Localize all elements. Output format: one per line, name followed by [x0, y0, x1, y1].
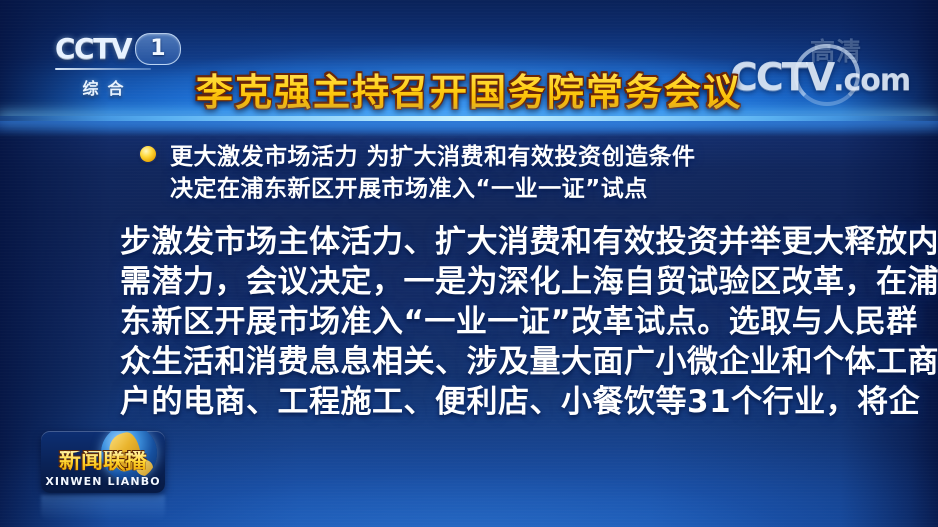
body-line-3: 东新区开展市场准入“一业一证”改革试点。选取与人民群: [120, 302, 830, 342]
cctv1-number-badge: 1: [135, 33, 181, 65]
body-line-1: 步激发市场主体活力、扩大消费和有效投资并举更大释放内: [120, 222, 830, 262]
program-name-chinese: 新闻联播: [41, 451, 165, 473]
cctv1-channel-number: 1: [150, 38, 165, 60]
cctv1-logo-row: CCTV 1: [55, 31, 183, 67]
cctv1-channel-subname: 综合: [55, 75, 151, 99]
subtitle-line-2: 决定在浦东新区开展市场准入“一业一证”试点: [140, 170, 840, 202]
watermark-brand: CCTV: [730, 55, 833, 99]
body-paragraph: 步激发市场主体活力、扩大消费和有效投资并举更大释放内 需潜力，会议决定，一是为深…: [120, 222, 830, 422]
program-name-pinyin: XINWEN LIANBO: [41, 475, 165, 488]
body-line-5: 户的电商、工程施工、便利店、小餐饮等31个行业，将企: [120, 382, 830, 422]
watermark-suffix: .com: [833, 63, 910, 98]
subtitle-line-1: 更大激发市场活力 为扩大消费和有效投资创造条件: [140, 138, 840, 170]
body-line-2: 需潜力，会议决定，一是为深化上海自贸试验区改革，在浦: [120, 262, 830, 302]
subtitle-block: 更大激发市场活力 为扩大消费和有效投资创造条件 决定在浦东新区开展市场准入“一业…: [140, 138, 840, 202]
cctv1-wordmark: CCTV: [55, 35, 131, 63]
watermark-wordmark: CCTV.com: [730, 58, 920, 96]
body-line-4: 众生活和消费息息相关、涉及量大面广小微企业和个体工商: [120, 342, 830, 382]
cctv-com-watermark: 高清 CCTV.com: [730, 32, 920, 104]
subtitle-text-2: 决定在浦东新区开展市场准入“一业一证”试点: [170, 169, 648, 203]
headline-divider-fade: [0, 121, 938, 137]
cctv1-underline-rule: [55, 68, 151, 70]
broadcast-screen: CCTV 1 综合 高清 CCTV.com 李克强主持召开国务院常务会议 更大激…: [0, 0, 938, 527]
bullet-dot-icon: [140, 146, 156, 162]
xinwen-lianbo-logo: 新闻联播 XINWEN LIANBO: [41, 431, 165, 493]
subtitle-text-1: 更大激发市场活力 为扩大消费和有效投资创造条件: [170, 137, 696, 171]
cctv1-channel-logo: CCTV 1 综合: [55, 31, 183, 99]
logo-reflection: [41, 495, 165, 521]
